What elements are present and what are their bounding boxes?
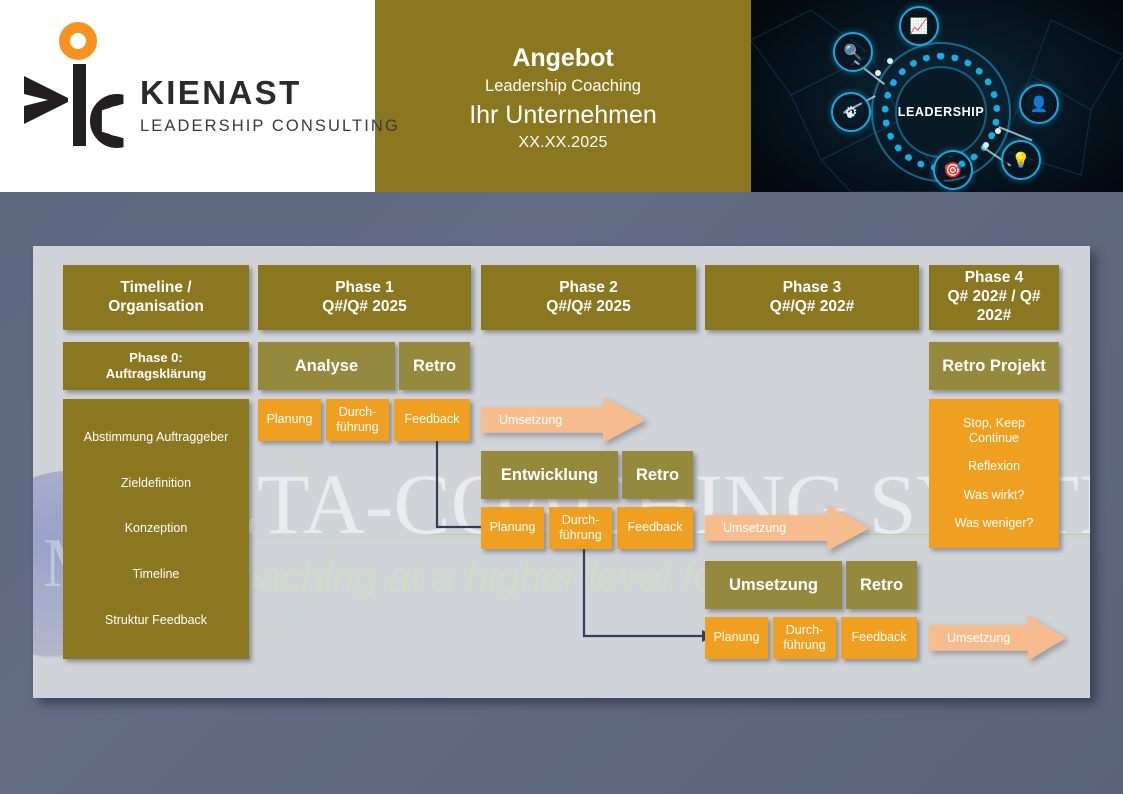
- phase-header-title: Phase 4: [965, 269, 1024, 288]
- stream-3-name[interactable]: Umsetzung: [705, 561, 842, 609]
- phase-header-title: Phase 2: [559, 279, 618, 298]
- retro-projekt-item-list: Stop, Keep Continue Reflexion Was wirkt?…: [929, 399, 1059, 548]
- magnifier-icon: 🔍: [833, 32, 873, 72]
- lightbulb-icon: 💡: [1001, 140, 1041, 180]
- phase0-item[interactable]: Abstimmung Auftraggeber: [69, 430, 243, 445]
- phase-header-3[interactable]: Phase 3 Q#/Q# 202#: [705, 265, 919, 330]
- retro-item-line1: Stop, Keep: [963, 416, 1025, 430]
- phase-header-2[interactable]: Phase 2 Q#/Q# 2025: [481, 265, 696, 330]
- chart-growth-icon: 📈: [899, 6, 939, 46]
- logo-vertical-bar-icon: [73, 64, 86, 146]
- phase-header-period: Q# 202# / Q# 202#: [929, 288, 1059, 326]
- stream-3-umsetzung-arrow[interactable]: Umsetzung: [929, 615, 1066, 661]
- retro-projekt-item[interactable]: Was weniger?: [934, 516, 1054, 531]
- client-name: Ihr Unternehmen: [469, 99, 657, 132]
- stream-3-chip-planung[interactable]: Planung: [705, 617, 768, 659]
- logo-panel: KIENAST LEADERSHIP CONSULTING: [0, 0, 375, 192]
- offer-subtitle: Leadership Coaching: [485, 74, 641, 99]
- retro-projekt-item[interactable]: Reflexion: [934, 459, 1054, 474]
- person-profile-icon: 👤: [1019, 84, 1059, 124]
- phase0-item[interactable]: Timeline: [69, 567, 243, 582]
- phase0-heading[interactable]: Phase 0: Auftragsklärung: [63, 342, 249, 390]
- stream-1-chip-planung[interactable]: Planung: [258, 399, 321, 441]
- phase-header-title: Timeline /: [120, 279, 191, 298]
- retro-projekt-heading[interactable]: Retro Projekt: [929, 342, 1059, 390]
- stream-1-chip-feedback[interactable]: Feedback: [394, 399, 470, 441]
- logo-mark-icon: [18, 22, 138, 146]
- retro-item-line2: Continue: [969, 431, 1019, 445]
- offer-title: Angebot: [512, 43, 613, 75]
- phase-header-period: Q#/Q# 202#: [770, 298, 854, 317]
- stream-1-retro[interactable]: Retro: [399, 342, 470, 390]
- stream-2-umsetzung-arrow[interactable]: Umsetzung: [705, 505, 870, 551]
- roadmap-diagram-panel: M META-COACHING SYSTEM TM Coaching at a …: [33, 246, 1090, 698]
- phase-header-period: Q#/Q# 2025: [546, 298, 630, 317]
- chip-line-1: Durch-: [786, 623, 824, 638]
- logo-circle-icon: [59, 22, 97, 60]
- hero-center-label: LEADERSHIP: [898, 105, 985, 119]
- chip-line-1: Durch-: [562, 513, 600, 528]
- phase0-item[interactable]: Zieldefinition: [69, 476, 243, 491]
- hero-core-circle: LEADERSHIP: [895, 66, 987, 158]
- phase0-item-list: Abstimmung Auftraggeber Zieldefinition K…: [63, 399, 249, 659]
- arrow-label: Umsetzung: [499, 413, 562, 427]
- target-icon: 🎯: [933, 150, 973, 190]
- phase-header-title: Phase 1: [335, 279, 394, 298]
- phase-header-title-2: Organisation: [108, 298, 204, 317]
- stream-2-retro[interactable]: Retro: [622, 451, 693, 499]
- stream-2-chip-feedback[interactable]: Feedback: [617, 507, 693, 549]
- retro-projekt-item[interactable]: Was wirkt?: [934, 488, 1054, 503]
- retro-projekt-item[interactable]: Stop, Keep Continue: [934, 416, 1054, 447]
- stream-2-chip-planung[interactable]: Planung: [481, 507, 544, 549]
- logo-tagline: LEADERSHIP CONSULTING: [140, 117, 400, 136]
- title-panel: Angebot Leadership Coaching Ihr Unterneh…: [375, 0, 751, 192]
- chip-line-1: Durch-: [339, 405, 377, 420]
- phase0-heading-line2: Auftragsklärung: [106, 366, 206, 382]
- phase-header-timeline[interactable]: Timeline / Organisation: [63, 265, 249, 330]
- stream-3-chip-feedback[interactable]: Feedback: [841, 617, 917, 659]
- phase0-item[interactable]: Struktur Feedback: [69, 613, 243, 628]
- hero-link-dot: [995, 128, 1001, 134]
- arrow-label: Umsetzung: [947, 631, 1010, 645]
- stream-2-chip-durchfuehrung[interactable]: Durch- führung: [549, 507, 612, 549]
- hero-link-dot: [983, 142, 989, 148]
- phase-header-1[interactable]: Phase 1 Q#/Q# 2025: [258, 265, 471, 330]
- phase-header-title: Phase 3: [783, 279, 842, 298]
- hero-link-dot: [887, 58, 893, 64]
- logo-company-name: KIENAST: [140, 76, 400, 111]
- stream-2-name[interactable]: Entwicklung: [481, 451, 618, 499]
- phase0-item[interactable]: Konzeption: [69, 521, 243, 536]
- stream-1-name[interactable]: Analyse: [258, 342, 395, 390]
- phase0-heading-line1: Phase 0:: [129, 350, 182, 366]
- chip-line-2: führung: [783, 638, 825, 653]
- stream-1-umsetzung-arrow[interactable]: Umsetzung: [481, 397, 646, 443]
- chip-line-2: führung: [336, 420, 378, 435]
- phase-header-4[interactable]: Phase 4 Q# 202# / Q# 202#: [929, 265, 1059, 330]
- logo-chevron-icon: [22, 74, 70, 126]
- stream-1-chip-durchfuehrung[interactable]: Durch- führung: [326, 399, 389, 441]
- logo-c-icon: [90, 94, 144, 148]
- arrow-label: Umsetzung: [723, 521, 786, 535]
- header-band: KIENAST LEADERSHIP CONSULTING Angebot Le…: [0, 0, 1123, 192]
- gears-icon: ⚙: [831, 92, 871, 132]
- hero-link-dot: [875, 70, 881, 76]
- offer-date: XX.XX.2025: [518, 131, 607, 155]
- logo-wordmark: KIENAST LEADERSHIP CONSULTING: [140, 76, 400, 136]
- kienast-logo: KIENAST LEADERSHIP CONSULTING: [14, 20, 364, 172]
- stream-3-retro[interactable]: Retro: [846, 561, 917, 609]
- phase-header-period: Q#/Q# 2025: [322, 298, 406, 317]
- chip-line-2: führung: [559, 528, 601, 543]
- stream-3-chip-durchfuehrung[interactable]: Durch- führung: [773, 617, 836, 659]
- leadership-hero-image: LEADERSHIP 📈 🔍 ⚙ 👤 💡 🎯: [751, 0, 1123, 192]
